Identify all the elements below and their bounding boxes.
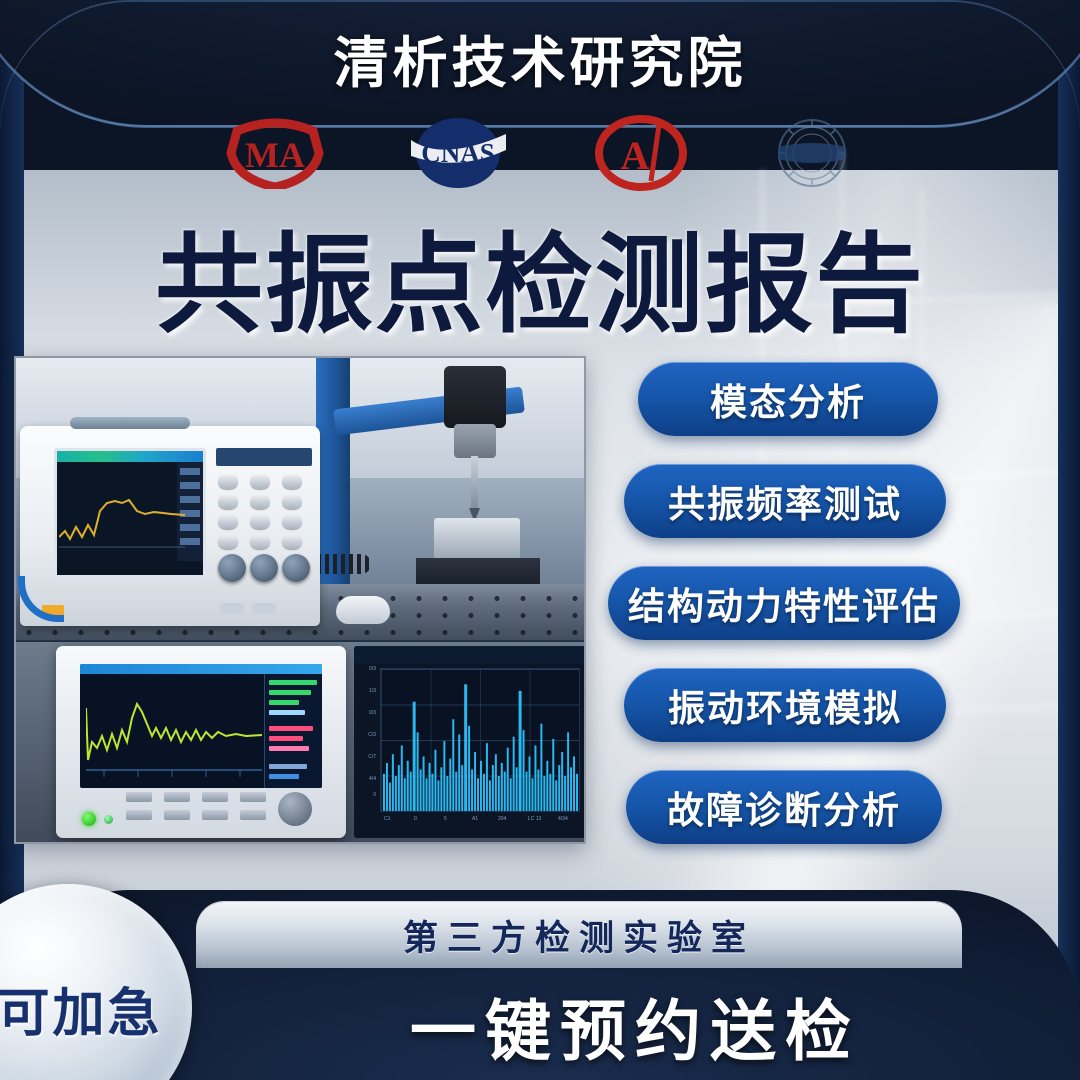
poster-root: 清析技术研究院 MA CNAS A bbox=[0, 0, 1080, 1080]
cta-text[interactable]: 一键预约送检 bbox=[250, 978, 1020, 1074]
urgent-badge-label: 可加急 bbox=[0, 971, 163, 1046]
lab-type-banner-label: 第三方检测实验室 bbox=[403, 910, 755, 961]
lab-type-banner: 第三方检测实验室 bbox=[196, 902, 962, 968]
